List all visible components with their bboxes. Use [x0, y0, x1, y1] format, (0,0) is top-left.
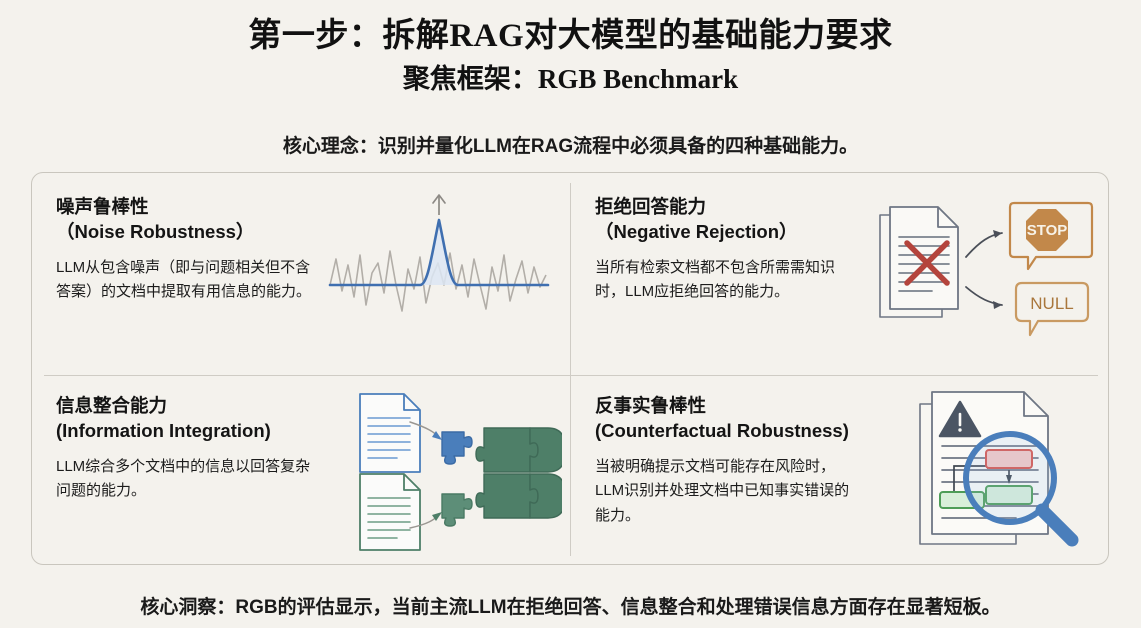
capability-description: LLM综合多个文档中的信息以回答复杂问题的能力。	[56, 455, 318, 504]
capability-text: 信息整合能力 (Information Integration) LLM综合多个…	[56, 394, 318, 504]
capability-description: 当所有检索文档都不包含所需需知识时，LLM应拒绝回答的能力。	[595, 256, 857, 305]
page-title: 第一步：拆解RAG对大模型的基础能力要求	[0, 16, 1141, 57]
capability-text: 噪声鲁棒性 （Noise Robustness） LLM从包含噪声（即与问题相关…	[56, 195, 318, 305]
capability-title-en: （Noise Robustness）	[56, 220, 318, 245]
noise-signal-chart-icon	[324, 193, 554, 343]
capability-description: 当被明确提示文档可能存在风险时，LLM识别并处理文档中已知事实错误的能力。	[595, 455, 857, 528]
capability-title-cn: 反事实鲁棒性	[595, 395, 706, 416]
capability-title: 信息整合能力 (Information Integration)	[56, 394, 318, 444]
header: 第一步：拆解RAG对大模型的基础能力要求 聚焦框架：RGB Benchmark	[0, 16, 1141, 97]
puzzle-integration-icon	[352, 382, 562, 562]
capability-description: LLM从包含噪声（即与问题相关但不含答案）的文档中提取有用信息的能力。	[56, 256, 318, 305]
rejected-documents-icon: STOP NULL	[866, 185, 1096, 355]
core-insight-line: 核心洞察：RGB的评估显示，当前主流LLM在拒绝回答、信息整合和处理错误信息方面…	[0, 592, 1141, 619]
page-subtitle: 聚焦框架：RGB Benchmark	[0, 62, 1141, 97]
capability-text: 反事实鲁棒性 (Counterfactual Robustness) 当被明确提…	[595, 394, 857, 528]
capability-title-en: （Negative Rejection）	[595, 220, 857, 245]
magnifier-document-icon	[906, 378, 1096, 563]
capability-negative-rejection: 拒绝回答能力 （Negative Rejection） 当所有检索文档都不包含所…	[571, 173, 1110, 376]
infographic-page: 第一步：拆解RAG对大模型的基础能力要求 聚焦框架：RGB Benchmark …	[0, 0, 1141, 628]
capability-title-en: (Counterfactual Robustness)	[595, 419, 857, 444]
null-label: NULL	[1030, 294, 1073, 313]
capability-text: 拒绝回答能力 （Negative Rejection） 当所有检索文档都不包含所…	[595, 195, 857, 305]
capability-information-integration: 信息整合能力 (Information Integration) LLM综合多个…	[32, 376, 570, 566]
capability-counterfactual-robustness: 反事实鲁棒性 (Counterfactual Robustness) 当被明确提…	[571, 376, 1110, 566]
capabilities-card: 噪声鲁棒性 （Noise Robustness） LLM从包含噪声（即与问题相关…	[31, 172, 1109, 565]
capability-title: 反事实鲁棒性 (Counterfactual Robustness)	[595, 394, 857, 444]
capability-title-en: (Information Integration)	[56, 419, 318, 444]
core-concept-line: 核心理念：识别并量化LLM在RAG流程中必须具备的四种基础能力。	[0, 131, 1141, 158]
capability-title: 噪声鲁棒性 （Noise Robustness）	[56, 195, 318, 245]
stop-label: STOP	[1027, 222, 1068, 239]
capability-title-cn: 信息整合能力	[56, 395, 167, 416]
capability-title: 拒绝回答能力 （Negative Rejection）	[595, 195, 857, 245]
capability-noise-robustness: 噪声鲁棒性 （Noise Robustness） LLM从包含噪声（即与问题相关…	[32, 173, 570, 376]
capability-title-cn: 拒绝回答能力	[595, 196, 706, 217]
capability-title-cn: 噪声鲁棒性	[56, 196, 149, 217]
